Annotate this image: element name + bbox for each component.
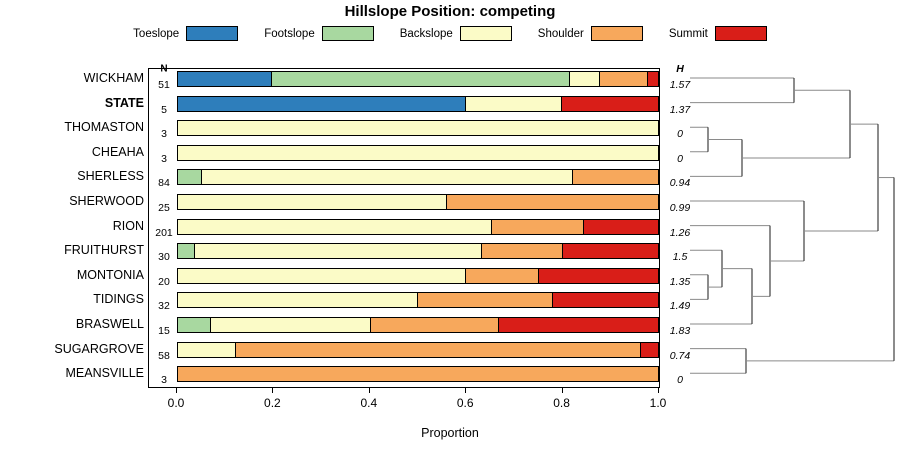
bar-segment-summit bbox=[539, 269, 659, 283]
axis-tick-label: 0.2 bbox=[264, 396, 281, 410]
bar-segment-toeslope bbox=[178, 72, 272, 86]
bar-meansville bbox=[177, 366, 659, 382]
bar-fruithurst bbox=[177, 243, 659, 259]
n-value-montonia: 20 bbox=[150, 276, 178, 288]
bar-wickham bbox=[177, 71, 659, 87]
n-value-rion: 201 bbox=[150, 227, 178, 239]
chart-title: Hillslope Position: competing bbox=[0, 3, 900, 20]
bar-segment-shoulder bbox=[371, 318, 499, 332]
legend-swatch bbox=[186, 26, 238, 41]
legend-item-footslope: Footslope bbox=[264, 26, 374, 41]
bar-segment-backslope bbox=[178, 293, 418, 307]
n-value-sherless: 84 bbox=[150, 177, 178, 189]
bar-segment-backslope bbox=[202, 170, 573, 184]
bar-segment-summit bbox=[553, 293, 658, 307]
bar-segment-shoulder bbox=[482, 244, 563, 258]
legend-swatch bbox=[715, 26, 767, 41]
bar-state bbox=[177, 96, 659, 112]
bar-segment-backslope bbox=[178, 220, 492, 234]
bar-segment-toeslope bbox=[178, 97, 466, 111]
bar-segment-footslope bbox=[272, 72, 570, 86]
bar-braswell bbox=[177, 317, 659, 333]
row-label-state: STATE bbox=[105, 96, 144, 110]
axis-tick bbox=[176, 388, 177, 393]
legend-swatch bbox=[460, 26, 512, 41]
bar-segment-shoulder bbox=[178, 367, 658, 381]
n-value-meansville: 3 bbox=[150, 374, 178, 386]
row-label-wickham: WICKHAM bbox=[84, 71, 144, 85]
bar-segment-backslope bbox=[178, 195, 447, 209]
x-axis-title: Proportion bbox=[0, 426, 900, 440]
bar-segment-shoulder bbox=[447, 195, 658, 209]
n-value-fruithurst: 30 bbox=[150, 251, 178, 263]
bar-segment-shoulder bbox=[236, 343, 641, 357]
bar-segment-backslope bbox=[570, 72, 600, 86]
legend-label: Summit bbox=[669, 28, 708, 40]
n-value-tidings: 32 bbox=[150, 300, 178, 312]
row-label-meansville: MEANSVILLE bbox=[65, 366, 144, 380]
row-label-cheaha: CHEAHA bbox=[92, 145, 144, 159]
n-value-sugargrove: 58 bbox=[150, 350, 178, 362]
bar-thomaston bbox=[177, 120, 659, 136]
bar-segment-backslope bbox=[178, 146, 658, 160]
n-value-sherwood: 25 bbox=[150, 202, 178, 214]
bar-segment-footslope bbox=[178, 318, 211, 332]
axis-tick bbox=[272, 388, 273, 393]
row-label-sherless: SHERLESS bbox=[77, 169, 144, 183]
bar-segment-summit bbox=[499, 318, 658, 332]
axis-tick bbox=[658, 388, 659, 393]
n-value-state: 5 bbox=[150, 104, 178, 116]
row-label-tidings: TIDINGS bbox=[93, 292, 144, 306]
n-value-wickham: 51 bbox=[150, 79, 178, 91]
legend-label: Footslope bbox=[264, 28, 315, 40]
row-label-rion: RION bbox=[113, 219, 144, 233]
n-value-braswell: 15 bbox=[150, 325, 178, 337]
n-value-thomaston: 3 bbox=[150, 128, 178, 140]
legend-item-toeslope: Toeslope bbox=[133, 26, 238, 41]
axis-tick-label: 0.0 bbox=[168, 396, 185, 410]
bar-segment-shoulder bbox=[600, 72, 649, 86]
axis-tick-label: 0.4 bbox=[360, 396, 377, 410]
legend-item-summit: Summit bbox=[669, 26, 767, 41]
legend-label: Backslope bbox=[400, 28, 453, 40]
bar-segment-summit bbox=[648, 72, 658, 86]
legend-label: Shoulder bbox=[538, 28, 584, 40]
axis-tick-label: 0.6 bbox=[457, 396, 474, 410]
bar-tidings bbox=[177, 292, 659, 308]
bar-segment-backslope bbox=[178, 121, 658, 135]
legend: ToeslopeFootslopeBackslopeShoulderSummit bbox=[0, 26, 900, 41]
row-label-montonia: MONTONIA bbox=[77, 268, 144, 282]
bar-segment-backslope bbox=[178, 343, 236, 357]
axis-tick bbox=[562, 388, 563, 393]
n-value-cheaha: 3 bbox=[150, 153, 178, 165]
bar-rion bbox=[177, 219, 659, 235]
bar-segment-footslope bbox=[178, 244, 195, 258]
row-label-sugargrove: SUGARGROVE bbox=[54, 342, 144, 356]
bar-cheaha bbox=[177, 145, 659, 161]
bar-segment-shoulder bbox=[466, 269, 539, 283]
legend-item-shoulder: Shoulder bbox=[538, 26, 643, 41]
bar-segment-backslope bbox=[178, 269, 466, 283]
bar-sugargrove bbox=[177, 342, 659, 358]
row-label-fruithurst: FRUITHURST bbox=[64, 243, 144, 257]
row-label-sherwood: SHERWOOD bbox=[69, 194, 144, 208]
bar-sherless bbox=[177, 169, 659, 185]
axis-tick-label: 0.8 bbox=[553, 396, 570, 410]
bar-segment-summit bbox=[641, 343, 658, 357]
axis-tick bbox=[465, 388, 466, 393]
dendrogram bbox=[660, 60, 900, 405]
bar-segment-summit bbox=[584, 220, 658, 234]
legend-swatch bbox=[591, 26, 643, 41]
bar-sherwood bbox=[177, 194, 659, 210]
plot-panel bbox=[148, 68, 660, 388]
bar-segment-backslope bbox=[466, 97, 563, 111]
bar-segment-shoulder bbox=[492, 220, 584, 234]
bar-segment-shoulder bbox=[418, 293, 553, 307]
bar-segment-backslope bbox=[195, 244, 482, 258]
bar-segment-backslope bbox=[211, 318, 371, 332]
legend-swatch bbox=[322, 26, 374, 41]
row-label-thomaston: THOMASTON bbox=[64, 120, 144, 134]
legend-label: Toeslope bbox=[133, 28, 179, 40]
bar-segment-summit bbox=[562, 97, 658, 111]
axis-tick bbox=[369, 388, 370, 393]
row-label-braswell: BRASWELL bbox=[76, 317, 144, 331]
legend-item-backslope: Backslope bbox=[400, 26, 512, 41]
bar-montonia bbox=[177, 268, 659, 284]
bar-segment-footslope bbox=[178, 170, 202, 184]
bar-segment-shoulder bbox=[573, 170, 658, 184]
bar-segment-summit bbox=[563, 244, 658, 258]
n-column-header: N bbox=[150, 64, 178, 75]
